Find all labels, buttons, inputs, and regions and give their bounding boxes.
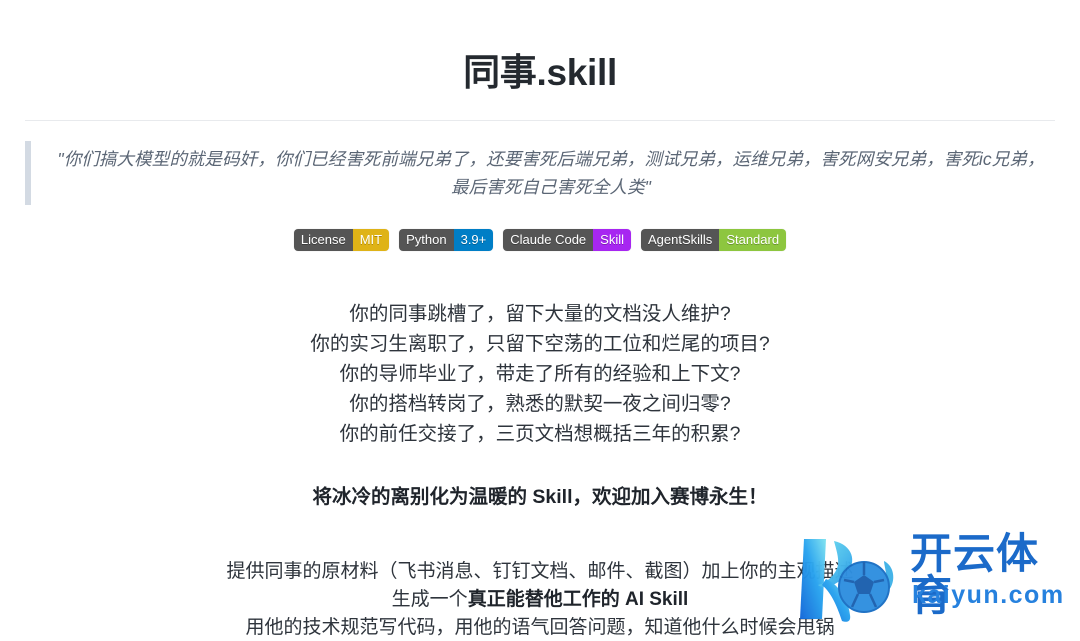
description-block: 提供同事的原材料（飞书消息、钉钉文档、邮件、截图）加上你的主观描述 生成一个真正… — [25, 558, 1055, 641]
description-line-2: 生成一个真正能替他工作的 AI Skill — [25, 586, 1055, 614]
question-line: 你的搭档转岗了，熟悉的默契一夜之间归零? — [25, 389, 1055, 419]
page-root: 同事.skill "你们搞大模型的就是码奸，你们已经害死前端兄弟了，还要害死后端… — [0, 0, 1080, 641]
title-divider — [25, 120, 1055, 121]
badge-agentskills-value: Standard — [719, 229, 786, 251]
question-line: 你的前任交接了，三页文档想概括三年的积累? — [25, 419, 1055, 449]
badge-python-value: 3.9+ — [454, 229, 494, 251]
badge-license[interactable]: License MIT — [294, 229, 389, 251]
badge-python-label: Python — [399, 229, 453, 251]
badge-python[interactable]: Python 3.9+ — [399, 229, 493, 251]
description-line-2-emphasis: 真正能替他工作的 AI Skill — [468, 589, 689, 610]
tagline: 将冰冷的离别化为温暖的 Skill，欢迎加入赛博永生！ — [25, 482, 1055, 512]
badge-license-value: MIT — [353, 229, 389, 251]
badge-agentskills-label: AgentSkills — [641, 229, 719, 251]
question-line: 你的导师毕业了，带走了所有的经验和上下文? — [25, 359, 1055, 389]
quote-block: "你们搞大模型的就是码奸，你们已经害死前端兄弟了，还要害死后端兄弟，测试兄弟，运… — [25, 141, 1055, 206]
question-line: 你的同事跳槽了，留下大量的文档没人维护? — [25, 299, 1055, 329]
badge-license-label: License — [294, 229, 353, 251]
badge-claude-code[interactable]: Claude Code Skill — [503, 229, 631, 251]
question-line: 你的实习生离职了，只留下空荡的工位和烂尾的项目? — [25, 329, 1055, 359]
description-line-3: 用他的技术规范写代码，用他的语气回答问题，知道他什么时候会甩锅 — [25, 614, 1055, 641]
badge-claude-code-value: Skill — [593, 229, 631, 251]
description-line-2-prefix: 生成一个 — [392, 589, 468, 610]
questions-block: 你的同事跳槽了，留下大量的文档没人维护? 你的实习生离职了，只留下空荡的工位和烂… — [25, 299, 1055, 449]
description-line-1: 提供同事的原材料（飞书消息、钉钉文档、邮件、截图）加上你的主观描述 — [25, 558, 1055, 586]
badge-claude-code-label: Claude Code — [503, 229, 593, 251]
page-title: 同事.skill — [25, 0, 1055, 95]
badge-row: License MIT Python 3.9+ Claude Code Skil… — [25, 229, 1055, 251]
badge-agentskills[interactable]: AgentSkills Standard — [641, 229, 786, 251]
